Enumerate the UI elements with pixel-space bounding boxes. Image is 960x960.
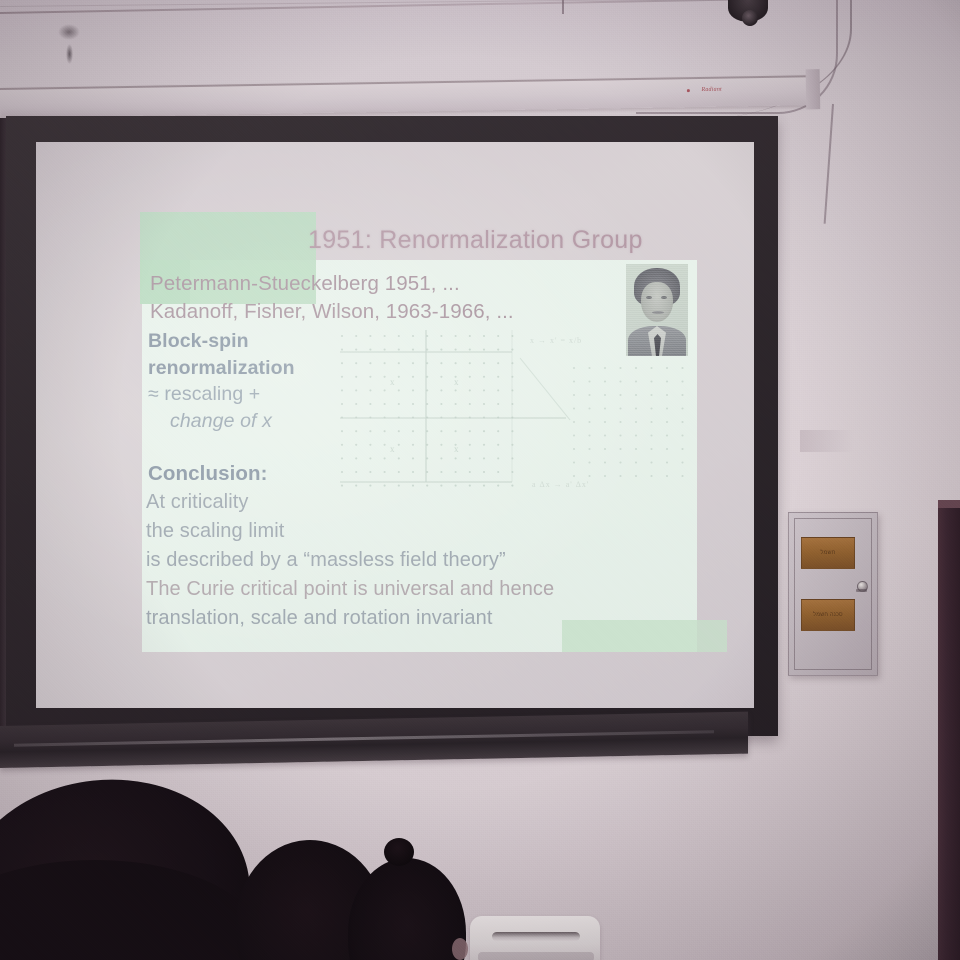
svg-text:x: x bbox=[390, 444, 395, 454]
door-frame-top bbox=[938, 500, 960, 508]
slide-authors: Petermann-Stueckelberg 1951, ... Kadanof… bbox=[150, 270, 620, 326]
panel-lock-slot bbox=[856, 589, 867, 592]
svg-text:x: x bbox=[454, 377, 459, 387]
door-frame-edge bbox=[938, 500, 960, 960]
conclusion-label: Conclusion: bbox=[148, 462, 268, 486]
audience-ear bbox=[452, 938, 468, 960]
presentation-slide: 1951: Renormalization Group Petermann-St… bbox=[102, 212, 697, 682]
wall-scuff bbox=[800, 430, 854, 452]
wall-smudge bbox=[58, 24, 80, 40]
slide-title: 1951: Renormalization Group bbox=[308, 226, 698, 255]
slide-bottom-text-block: At criticality the scaling limit is desc… bbox=[146, 488, 666, 633]
housing-end-cap bbox=[806, 69, 821, 109]
bottom-line-2: the scaling limit bbox=[146, 517, 666, 546]
panel-label-bottom: סכנה חשמל bbox=[801, 599, 855, 631]
wall-smudge-secondary bbox=[66, 44, 73, 64]
ceiling-conduit bbox=[562, 0, 564, 14]
author-line-2: Kadanoff, Fisher, Wilson, 1963-1966, ... bbox=[150, 298, 620, 326]
chair-shadow bbox=[478, 952, 594, 960]
projector-brand-label: Radiant bbox=[701, 87, 721, 93]
projection-screen-surface: 1951: Renormalization Group Petermann-St… bbox=[36, 142, 754, 708]
brand-dot-icon bbox=[687, 89, 690, 92]
svg-text:x: x bbox=[390, 377, 395, 387]
bottom-line-4: The Curie critical point is universal an… bbox=[146, 575, 666, 604]
diagram-annotation-bottom: a Δx → a' Δx' bbox=[532, 480, 589, 489]
projection-screen-frame: 1951: Renormalization Group Petermann-St… bbox=[6, 116, 778, 736]
marker-tray-lip bbox=[14, 730, 714, 746]
audience-hair-bun bbox=[384, 838, 414, 866]
svg-text:x: x bbox=[454, 444, 459, 454]
electrical-panel[interactable]: חשמל סכנה חשמל bbox=[788, 512, 878, 676]
diagram-annotation-top: x → x' = x/b bbox=[530, 336, 582, 345]
bottom-line-5: translation, scale and rotation invarian… bbox=[146, 604, 666, 633]
bottom-line-3: is described by a “massless field theory… bbox=[146, 546, 666, 575]
lecture-room-photo: Radiant 1951: Renormalization Group Pete… bbox=[0, 0, 960, 960]
chair-handle-slot bbox=[492, 932, 580, 941]
author-line-1: Petermann-Stueckelberg 1951, ... bbox=[150, 270, 620, 298]
block-spin-lattice-diagram: x x x x x → x' = x/b a Δx → a' Δx' bbox=[334, 330, 694, 500]
panel-label-top: חשמל bbox=[801, 537, 855, 569]
